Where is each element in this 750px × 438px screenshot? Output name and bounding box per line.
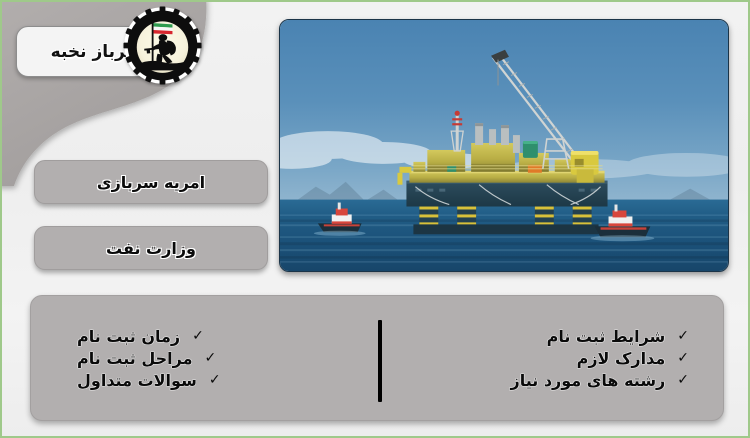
- link-reshteh-haye-mored-niaz[interactable]: ✓ رشته های مورد نیاز: [510, 371, 689, 390]
- check-icon: ✓: [209, 373, 221, 387]
- sidebar-item-vezarat-naft[interactable]: وزارت نفت: [34, 226, 268, 270]
- sidebar-item-label: امریه سربازی: [97, 173, 205, 192]
- check-icon: ✓: [192, 329, 204, 343]
- links-panel: ✓ شرایط ثبت نام ✓ مدارک لازم ✓ رشته های …: [30, 295, 724, 421]
- link-madarek-lazem[interactable]: ✓ مدارک لازم: [577, 349, 689, 368]
- sidebar-item-label: وزارت نفت: [106, 239, 196, 258]
- link-marahel-sabt-nam[interactable]: ✓ مراحل ثبت نام: [77, 349, 216, 368]
- link-label: شرایط ثبت نام: [547, 327, 666, 346]
- gear-soldier-flag-logo-icon: [121, 4, 204, 87]
- link-zaman-sabt-nam[interactable]: ✓ زمان ثبت نام: [77, 327, 204, 346]
- link-label: سوالات متداول: [77, 371, 197, 390]
- links-column-right: ✓ شرایط ثبت نام ✓ مدارک لازم ✓ رشته های …: [377, 296, 723, 420]
- offshore-oil-platform-photo: [279, 19, 729, 272]
- page-root: سرباز نخبه: [0, 0, 750, 438]
- check-icon: ✓: [677, 329, 689, 343]
- check-icon: ✓: [677, 351, 689, 365]
- sidebar-item-amriyeh-sarbazi[interactable]: امریه سربازی: [34, 160, 268, 204]
- panel-divider: [378, 320, 382, 402]
- links-column-left: ✓ زمان ثبت نام ✓ مراحل ثبت نام ✓ سوالات …: [31, 296, 377, 420]
- link-label: زمان ثبت نام: [77, 327, 180, 346]
- link-label: مدارک لازم: [577, 349, 666, 368]
- check-icon: ✓: [205, 351, 217, 365]
- link-soalat-motedavel[interactable]: ✓ سوالات متداول: [77, 371, 221, 390]
- link-label: رشته های مورد نیاز: [510, 371, 665, 390]
- link-sharayet-sabt-nam[interactable]: ✓ شرایط ثبت نام: [547, 327, 689, 346]
- link-label: مراحل ثبت نام: [77, 349, 193, 368]
- check-icon: ✓: [677, 373, 689, 387]
